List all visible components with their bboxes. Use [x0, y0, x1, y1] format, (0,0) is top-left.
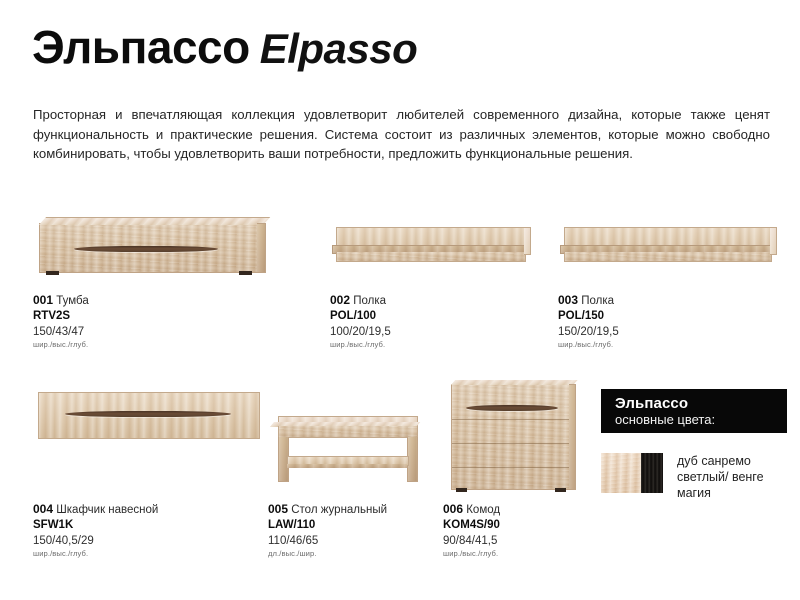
product-caption-006: 006 Комод KOM4S/90 90/84/41,5 шир./выс./…	[443, 502, 593, 559]
product-caption-004: 004 Шкафчик навесной SFW1K 150/40,5/29 ш…	[33, 502, 268, 559]
product-name: Полка	[581, 295, 614, 307]
product-name: Комод	[466, 504, 500, 516]
product-code: RTV2S	[33, 309, 293, 324]
color-panel-title: Эльпассо	[615, 395, 787, 412]
product-name: Стол журнальный	[291, 504, 387, 516]
chest-of-drawers-icon	[443, 378, 593, 502]
product-code: LAW/110	[268, 518, 438, 533]
product-number: 001	[33, 293, 53, 307]
product-dimension-legend: шир./выс./глуб.	[558, 340, 794, 350]
color-swatch	[601, 453, 663, 493]
product-name: Тумба	[56, 295, 89, 307]
product-caption-003: 003 Полка POL/150 150/20/19,5 шир./выс./…	[558, 293, 794, 350]
wall-shelf-icon	[330, 205, 560, 287]
product-dimensions: 150/20/19,5	[558, 325, 794, 340]
product-dimensions: 150/40,5/29	[33, 534, 268, 549]
product-dimension-legend: дл./выс./шир.	[268, 549, 438, 559]
product-card-006[interactable]: 006 Комод KOM4S/90 90/84/41,5 шир./выс./…	[443, 378, 593, 559]
product-caption-005: 005 Стол журнальный LAW/110 110/46/65 дл…	[268, 502, 438, 559]
swatch-oak-sanremo	[601, 453, 641, 493]
color-swatch-label: дуб санремо светлый/ венге магия	[677, 453, 800, 501]
color-panel-subtitle: основные цвета:	[615, 412, 787, 428]
page-title-ru: Эльпассо	[32, 21, 250, 73]
color-panel: Эльпассо основные цвета: дуб санремо све…	[601, 389, 800, 501]
product-number: 006	[443, 502, 463, 516]
product-dimensions: 90/84/41,5	[443, 534, 593, 549]
product-number: 004	[33, 502, 53, 516]
product-card-004[interactable]: 004 Шкафчик навесной SFW1K 150/40,5/29 ш…	[33, 378, 268, 559]
tv-stand-icon	[33, 205, 293, 287]
product-card-001[interactable]: 001 Тумба RTV2S 150/43/47 шир./выс./глуб…	[33, 205, 293, 350]
product-code: SFW1K	[33, 518, 268, 533]
product-number: 003	[558, 293, 578, 307]
product-dimensions: 100/20/19,5	[330, 325, 560, 340]
product-caption-002: 002 Полка POL/100 100/20/19,5 шир./выс./…	[330, 293, 560, 350]
product-dimension-legend: шир./выс./глуб.	[330, 340, 560, 350]
product-dimension-legend: шир./выс./глуб.	[443, 549, 593, 559]
wall-cabinet-icon	[33, 378, 268, 502]
product-dimensions: 110/46/65	[268, 534, 438, 549]
product-dimension-legend: шир./выс./глуб.	[33, 340, 293, 350]
product-name: Полка	[353, 295, 386, 307]
product-code: POL/100	[330, 309, 560, 324]
product-card-005[interactable]: 005 Стол журнальный LAW/110 110/46/65 дл…	[268, 378, 438, 559]
color-panel-header: Эльпассо основные цвета:	[601, 389, 787, 433]
collection-description: Просторная и впечатляющая коллекция удов…	[33, 105, 770, 163]
product-dimensions: 150/43/47	[33, 325, 293, 340]
product-card-003[interactable]: 003 Полка POL/150 150/20/19,5 шир./выс./…	[558, 205, 794, 350]
wall-shelf-icon	[558, 205, 794, 287]
product-number: 005	[268, 502, 288, 516]
product-name: Шкафчик навесной	[56, 504, 158, 516]
catalog-page: ЭльпассоElpasso Просторная и впечатляюща…	[0, 0, 800, 600]
product-dimension-legend: шир./выс./глуб.	[33, 549, 268, 559]
page-title: ЭльпассоElpasso	[32, 24, 417, 70]
coffee-table-icon	[268, 378, 438, 502]
page-title-en: Elpasso	[260, 25, 418, 72]
product-card-002[interactable]: 002 Полка POL/100 100/20/19,5 шир./выс./…	[330, 205, 560, 350]
product-number: 002	[330, 293, 350, 307]
product-caption-001: 001 Тумба RTV2S 150/43/47 шир./выс./глуб…	[33, 293, 293, 350]
product-code: KOM4S/90	[443, 518, 593, 533]
swatch-wenge-magic	[641, 453, 663, 493]
color-swatch-row: дуб санремо светлый/ венге магия	[601, 453, 800, 501]
product-code: POL/150	[558, 309, 794, 324]
